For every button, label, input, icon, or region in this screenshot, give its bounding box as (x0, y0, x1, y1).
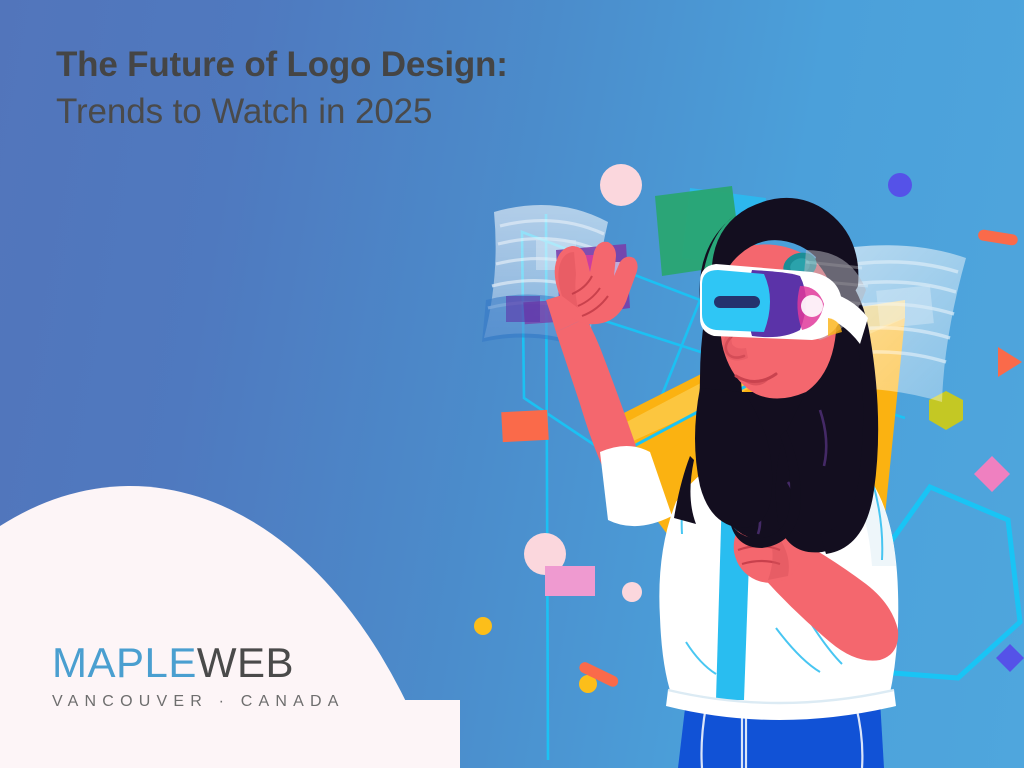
pink-diamond (974, 456, 1010, 492)
violet-diamond (996, 644, 1024, 672)
pink-square (545, 566, 595, 596)
logo-tagline: VANCOUVER · CANADA (52, 693, 345, 711)
presentation-slide: The Future of Logo Design: Trends to Wat… (0, 0, 1024, 768)
pink-circle-large (600, 164, 642, 206)
logo-wordmark: MAPLEWEB (52, 642, 345, 684)
logo-maple-text: MAPLE (52, 642, 197, 684)
yellow-dot-left (474, 617, 492, 635)
violet-circle (888, 173, 912, 197)
page-title: The Future of Logo Design: Trends to Wat… (56, 44, 696, 134)
logo-web-text: WEB (197, 642, 294, 684)
pink-circle-small (622, 582, 642, 602)
figure-raised-arm (546, 242, 672, 526)
mapleweb-logo[interactable]: MAPLEWEB VANCOUVER · CANADA (52, 642, 345, 711)
title-line-secondary: Trends to Watch in 2025 (56, 91, 696, 134)
orange-rectangle (501, 410, 549, 442)
title-line-primary: The Future of Logo Design: (56, 44, 696, 85)
orange-triangle (998, 347, 1022, 377)
orange-dash-upper (977, 229, 1018, 246)
